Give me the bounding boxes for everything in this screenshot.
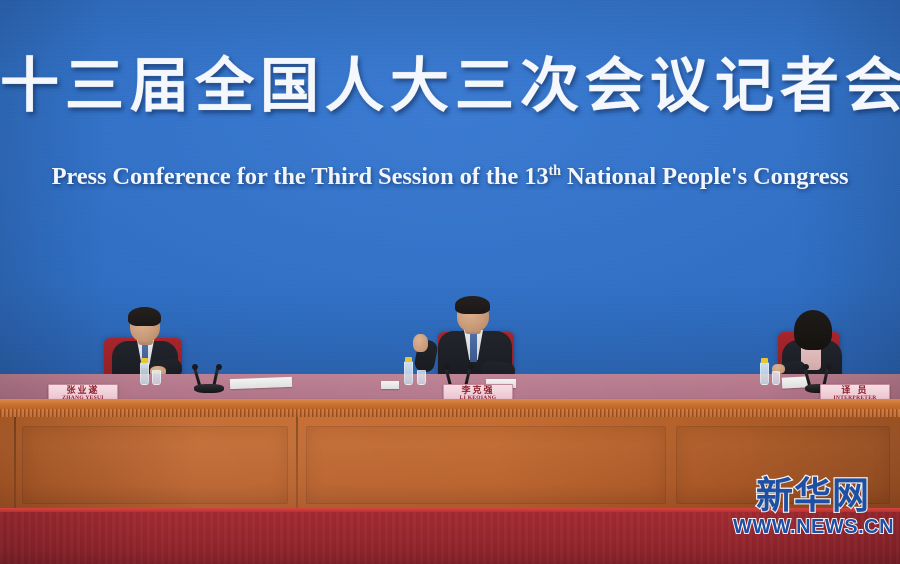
desk-panel-seam-left [14, 417, 16, 512]
xinhua-watermark: 新华网 WWW.NEWS.CN [733, 477, 893, 537]
bottle-cap-left [141, 358, 148, 363]
water-glass-left [152, 370, 161, 385]
desk-panel-inset-center [306, 426, 666, 504]
watermark-logo-url: WWW.NEWS.CN [733, 517, 893, 537]
hair-left [128, 307, 161, 326]
water-bottle-right [760, 362, 769, 385]
microphone-head-left-a [192, 364, 198, 370]
water-glass-right [772, 371, 780, 385]
bottle-cap-right [761, 358, 768, 363]
banner-title-english-before: Press Conference for the Third Session o… [52, 163, 549, 190]
microphone-head-center-a [444, 364, 450, 370]
water-glass-center [417, 370, 426, 385]
banner-title-chinese: 十三届全国人大三次会议记者会 [0, 56, 900, 115]
microphone-head-right-a [803, 364, 809, 370]
banner-title-english: Press Conference for the Third Session o… [0, 163, 900, 191]
water-bottle-left [140, 362, 149, 385]
hand-center-raised [413, 334, 428, 352]
microphone-head-center-b [468, 364, 474, 370]
press-conference-photo: 十三届全国人大三次会议记者会 Press Conference for the … [0, 0, 900, 564]
desk-panel-inset-left [22, 426, 288, 504]
banner-title-english-after: National People's Congress [561, 163, 848, 190]
desk-panel-seam-right [296, 417, 298, 512]
water-bottle-center [404, 361, 413, 385]
hair-right [794, 310, 832, 350]
microphone-head-left-b [216, 364, 222, 370]
bottle-cap-center [405, 357, 412, 362]
document-center [381, 381, 399, 389]
microphone-head-right-b [826, 364, 832, 370]
watermark-logo-chinese: 新华网 [733, 477, 893, 514]
microphone-base-left [194, 384, 224, 393]
banner-title-ordinal-suffix: th [549, 163, 561, 179]
tie-center [470, 334, 477, 362]
hair-center [455, 296, 490, 314]
